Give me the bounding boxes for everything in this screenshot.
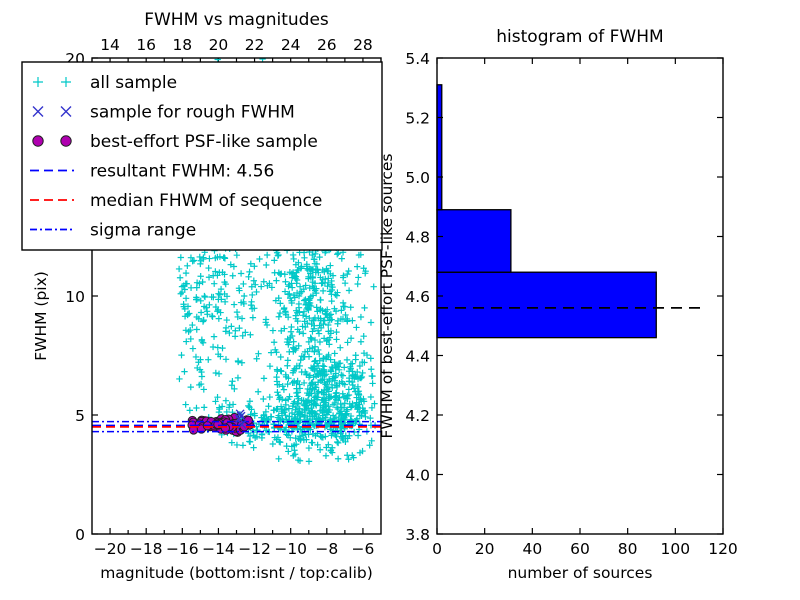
- scatter-point-plus: [234, 309, 240, 315]
- scatter-point-plus: [228, 323, 234, 329]
- scatter-point-plus: [332, 393, 338, 399]
- scatter-point-plus: [232, 333, 238, 339]
- x-tick-label: −16: [166, 540, 199, 558]
- scatter-point-plus: [253, 289, 259, 295]
- scatter-point-plus: [368, 319, 374, 325]
- scatter-point-plus: [353, 324, 359, 330]
- scatter-point-plus: [284, 363, 290, 369]
- histogram-bar: [437, 210, 511, 272]
- scatter-point-plus: [259, 56, 265, 62]
- scatter-point-plus: [371, 283, 377, 289]
- y-tick-label: 4.0: [405, 467, 430, 485]
- left-top-axis: 1416182022242628: [100, 36, 373, 64]
- scatter-point-plus: [369, 380, 375, 386]
- scatter-point-plus: [201, 293, 207, 299]
- scatter-point-plus: [259, 435, 265, 441]
- y-tick-label: 10: [65, 288, 85, 306]
- scatter-point-plus: [334, 292, 340, 298]
- scatter-point-plus: [199, 337, 205, 343]
- scatter-point-plus: [306, 445, 312, 451]
- scatter-point-plus: [245, 403, 251, 409]
- x-top-tick-label: 22: [245, 36, 265, 54]
- scatter-point-plus: [188, 384, 194, 390]
- scatter-point-plus: [240, 281, 246, 287]
- scatter-point-plus: [190, 345, 196, 351]
- scatter-point-plus: [276, 314, 282, 320]
- scatter-point-plus: [267, 394, 273, 400]
- scatter-point-plus: [178, 291, 184, 297]
- scatter-point-plus: [270, 327, 276, 333]
- scatter-point-plus: [335, 440, 341, 446]
- x-tick-label: −12: [238, 540, 271, 558]
- legend: all samplesample for rough FWHMbest-effo…: [22, 62, 382, 250]
- scatter-point-plus: [339, 255, 345, 261]
- scatter-point-plus: [199, 279, 205, 285]
- scatter-point-plus: [247, 439, 253, 445]
- y-tick-label: 5.2: [405, 110, 430, 128]
- right-xlabel: number of sources: [508, 564, 653, 582]
- scatter-point-plus: [355, 432, 361, 438]
- y-tick-label: 5.4: [405, 50, 430, 68]
- scatter-point-plus: [231, 301, 237, 307]
- scatter-point-plus: [223, 397, 229, 403]
- scatter-point-plus: [198, 309, 204, 315]
- y-tick-label: 4.6: [405, 288, 430, 306]
- scatter-point-plus: [271, 257, 277, 263]
- scatter-point-plus: [277, 271, 283, 277]
- scatter-point-plus: [191, 257, 197, 263]
- scatter-point-plus: [261, 375, 267, 381]
- y-tick-label: 5.0: [405, 169, 430, 187]
- x-tick-label: 40: [522, 540, 542, 558]
- scatter-point-plus: [216, 371, 222, 377]
- scatter-point-plus: [368, 394, 374, 400]
- scatter-point-plus: [201, 404, 207, 410]
- scatter-point-plus: [250, 444, 256, 450]
- scatter-point-plus: [340, 372, 346, 378]
- scatter-point-plus: [276, 456, 282, 462]
- scatter-point-plus: [361, 305, 367, 311]
- legend-label: sigma range: [90, 221, 196, 241]
- scatter-point-plus: [197, 273, 203, 279]
- scatter-point-plus: [216, 315, 222, 321]
- scatter-point-plus: [293, 390, 299, 396]
- histogram-bar: [437, 85, 442, 210]
- scatter-point-plus: [344, 271, 350, 277]
- right-panel-title: histogram of FWHM: [496, 27, 663, 47]
- scatter-point-plus: [331, 350, 337, 356]
- scatter-point-plus: [278, 354, 284, 360]
- scatter-point-plus: [246, 269, 252, 275]
- left-xlabel: magnitude (bottom:isnt / top:calib): [100, 564, 373, 582]
- scatter-point-plus: [193, 405, 199, 411]
- scatter-point-plus: [355, 281, 361, 287]
- scatter-point-plus: [285, 283, 291, 289]
- scatter-point-plus: [230, 273, 236, 279]
- x-top-tick-label: 18: [172, 36, 192, 54]
- scatter-point-plus: [358, 314, 364, 320]
- x-tick-label: −20: [94, 540, 127, 558]
- x-top-tick-label: 16: [136, 36, 156, 54]
- x-tick-label: 60: [570, 540, 590, 558]
- y-tick-label: 4.8: [405, 229, 430, 247]
- scatter-point-plus: [245, 274, 251, 280]
- x-tick-label: −8: [315, 540, 338, 558]
- scatter-point-plus: [334, 251, 340, 257]
- scatter-point-plus: [296, 301, 302, 307]
- scatter-point-plus: [288, 324, 294, 330]
- legend-marker-circle: [33, 136, 43, 146]
- scatter-point-plus: [282, 279, 288, 285]
- scatter-point-plus: [325, 322, 331, 328]
- scatter-point-plus: [264, 252, 270, 258]
- scatter-point-plus: [263, 262, 269, 268]
- scatter-point-plus: [248, 302, 254, 308]
- legend-marker-circle: [61, 136, 71, 146]
- scatter-point-plus: [177, 275, 183, 281]
- left-panel-title: FWHM vs magnitudes: [144, 10, 329, 30]
- scatter-point-plus: [184, 263, 190, 269]
- x-top-tick-label: 28: [353, 36, 373, 54]
- scatter-point-plus: [344, 357, 350, 363]
- scatter-point-plus: [265, 403, 271, 409]
- scatter-point-plus: [344, 339, 350, 345]
- scatter-point-plus: [300, 330, 306, 336]
- scatter-point-plus: [335, 456, 341, 462]
- x-tick-label: −14: [202, 540, 235, 558]
- matplotlib-figure: FWHM vs magnitudes−20−18−16−14−12−10−8−6…: [0, 0, 800, 600]
- right-panel: histogram of FWHM020406080100120number o…: [378, 27, 738, 582]
- scatter-point-plus: [273, 277, 279, 283]
- scatter-point-plus: [188, 285, 194, 291]
- scatter-point-plus: [235, 314, 241, 320]
- scatter-point-plus: [235, 375, 241, 381]
- scatter-point-plus: [348, 335, 354, 341]
- scatter-point-plus: [181, 368, 187, 374]
- scatter-point-plus: [333, 329, 339, 335]
- scatter-point-plus: [239, 315, 245, 321]
- scatter-point-plus: [249, 292, 255, 298]
- scatter-point-plus: [320, 363, 326, 369]
- scatter-point-plus: [234, 252, 240, 258]
- scatter-point-plus: [176, 266, 182, 272]
- scatter-point-plus: [215, 344, 221, 350]
- legend-label: best-effort PSF-like sample: [90, 132, 318, 152]
- legend-label: resultant FWHM: 4.56: [90, 162, 274, 182]
- histogram-bar: [437, 272, 656, 337]
- scatter-point-plus: [328, 298, 334, 304]
- scatter-point-plus: [348, 304, 354, 310]
- x-tick-label: 20: [475, 540, 495, 558]
- y-tick-label: 4.4: [405, 348, 430, 366]
- scatter-point-plus: [319, 434, 325, 440]
- scatter-point-plus: [211, 281, 217, 287]
- scatter-point-plus: [301, 380, 307, 386]
- left-bottom-axis: −20−18−16−14−12−10−8−6magnitude (bottom:…: [94, 528, 375, 582]
- histogram-bars: [437, 85, 656, 338]
- scatter-point-plus: [235, 359, 241, 365]
- scatter-point-plus: [178, 352, 184, 358]
- scatter-point-plus: [333, 336, 339, 342]
- x-tick-label: 100: [661, 540, 691, 558]
- scatter-point-plus: [313, 304, 319, 310]
- x-tick-label: −10: [274, 540, 307, 558]
- scatter-point-plus: [355, 274, 361, 280]
- x-top-tick-label: 26: [317, 36, 337, 54]
- x-tick-label: 0: [432, 540, 442, 558]
- x-tick-label: −6: [352, 540, 375, 558]
- y-tick-label: 4.2: [405, 407, 430, 425]
- scatter-point-plus: [320, 288, 326, 294]
- scatter-point-plus: [270, 441, 276, 447]
- scatter-point-plus: [271, 339, 277, 345]
- scatter-point-plus: [337, 344, 343, 350]
- scatter-point-plus: [178, 254, 184, 260]
- scatter-point-plus: [224, 317, 230, 323]
- x-top-tick-label: 20: [209, 36, 229, 54]
- scatter-point-plus: [278, 367, 284, 373]
- x-tick-label: −18: [130, 540, 163, 558]
- scatter-point-plus: [346, 287, 352, 293]
- legend-label: median FHWM of sequence: [90, 191, 322, 211]
- scatter-point-plus: [211, 333, 217, 339]
- scatter-point-plus: [205, 265, 211, 271]
- scatter-point-plus: [342, 280, 348, 286]
- x-tick-label: 120: [708, 540, 738, 558]
- scatter-point-plus: [176, 376, 182, 382]
- scatter-point-plus: [205, 356, 211, 362]
- scatter-point-plus: [317, 297, 323, 303]
- x-tick-label: 80: [618, 540, 638, 558]
- scatter-point-plus: [251, 278, 257, 284]
- scatter-point-plus: [183, 295, 189, 301]
- legend-label: all sample: [90, 73, 177, 93]
- scatter-point-plus: [367, 415, 373, 421]
- scatter-point-plus: [358, 339, 364, 345]
- scatter-point-plus: [300, 312, 306, 318]
- scatter-point-plus: [240, 442, 246, 448]
- scatter-point-plus: [187, 407, 193, 413]
- scatter-point-plus: [328, 291, 334, 297]
- legend-box: [22, 62, 382, 250]
- scatter-point-plus: [260, 396, 266, 402]
- scatter-point-plus: [346, 378, 352, 384]
- scatter-point-plus: [353, 352, 359, 358]
- scatter-point-plus: [182, 401, 188, 407]
- scatter-point-plus: [241, 293, 247, 299]
- scatter-point-plus: [229, 378, 235, 384]
- scatter-point-plus: [267, 363, 273, 369]
- scatter-point-plus: [290, 338, 296, 344]
- scatter-point-plus: [214, 308, 220, 314]
- scatter-point-plus: [217, 292, 223, 298]
- scatter-point-plus: [368, 366, 374, 372]
- scatter-point-plus: [318, 280, 324, 286]
- scatter-point-plus: [323, 453, 329, 459]
- scatter-point-plus: [281, 305, 287, 311]
- y-tick-label: 5: [75, 407, 85, 425]
- scatter-point-plus: [197, 261, 203, 267]
- scatter-point-plus: [255, 389, 261, 395]
- scatter-point-plus: [213, 370, 219, 376]
- figure-root: FWHM vs magnitudes−20−18−16−14−12−10−8−6…: [0, 0, 800, 600]
- scatter-point-plus: [281, 386, 287, 392]
- scatter-point-plus: [247, 398, 253, 404]
- scatter-point-plus: [290, 252, 296, 258]
- legend-label: sample for rough FWHM: [90, 103, 295, 123]
- scatter-point-plus: [369, 373, 375, 379]
- scatter-point-plus: [297, 357, 303, 363]
- scatter-point-plus: [194, 326, 200, 332]
- scatter-point-plus: [209, 313, 215, 319]
- scatter-point-plus: [223, 356, 229, 362]
- scatter-point-plus: [345, 268, 351, 274]
- left-ylabel: FWHM (pix): [32, 271, 50, 361]
- scatter-point-plus: [354, 263, 360, 269]
- scatter-point-plus: [306, 458, 312, 464]
- scatter-point-plus: [250, 314, 256, 320]
- scatter-point-plus: [346, 386, 352, 392]
- right-ylabel: FWHM of best-effort PSF-like sources: [378, 153, 396, 438]
- scatter-point-plus: [256, 256, 262, 262]
- y-tick-label: 3.8: [405, 526, 430, 544]
- scatter-point-plus: [206, 255, 212, 261]
- x-top-tick-label: 24: [281, 36, 301, 54]
- scatter-point-plus: [198, 298, 204, 304]
- plot-canvas: FWHM vs magnitudes−20−18−16−14−12−10−8−6…: [0, 0, 800, 600]
- scatter-point-plus: [334, 439, 340, 445]
- scatter-point-plus: [306, 353, 312, 359]
- scatter-point-plus: [183, 270, 189, 276]
- scatter-point-plus: [275, 253, 281, 259]
- scatter-point-plus: [238, 270, 244, 276]
- scatter-point-plus: [368, 355, 374, 361]
- scatter-point-plus: [361, 333, 367, 339]
- x-top-tick-label: 14: [100, 36, 120, 54]
- y-tick-label: 0: [75, 526, 85, 544]
